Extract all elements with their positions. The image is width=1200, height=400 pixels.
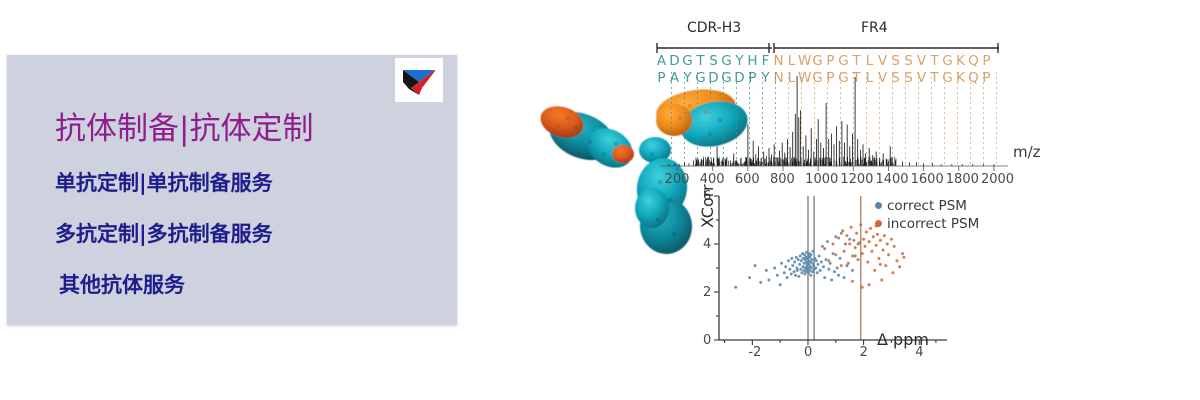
promo-link-polyclonal[interactable]: 多抗定制|多抗制备服务 (55, 218, 273, 248)
scatter-point (734, 286, 737, 289)
scatter-point (788, 268, 791, 271)
legend-swatch-correct (875, 202, 882, 209)
scatter-point (864, 245, 867, 248)
residue: H (746, 53, 759, 69)
scatter-point (814, 267, 817, 270)
legend-swatch-incorrect (875, 220, 882, 227)
scatter-point (832, 252, 835, 255)
scatter-point (839, 257, 842, 260)
legend-item-incorrect-psm: incorrect PSM (875, 216, 979, 232)
company-logo (395, 58, 443, 102)
residue: Y (733, 53, 746, 69)
residue: P (980, 53, 993, 69)
scatter-point (880, 279, 883, 282)
scatter-point (847, 262, 850, 265)
spectrum-xaxis-label: m/z (1013, 143, 1041, 161)
research-figure: CDR-H3 FR4 ADGTSGYHFNLWGPGTLVSSVTGKQP PA… (500, 0, 1200, 400)
scatter-point (791, 264, 794, 267)
scatter-point (759, 281, 762, 284)
scatter-point (776, 274, 779, 277)
scatter-point (810, 267, 813, 270)
scatter-point (786, 276, 789, 279)
scatter-point (823, 247, 826, 250)
spectrum-axis-ticks (678, 166, 994, 171)
company-arrow-logo-icon (395, 58, 443, 102)
scatter-point (854, 255, 857, 258)
scatter-point (840, 264, 843, 267)
scatter-point (795, 256, 798, 259)
scatter-point (875, 244, 878, 247)
scatter-point (902, 256, 905, 259)
spectrum-tick-label: 1200 (840, 172, 873, 187)
scatter-point (866, 261, 869, 264)
scatter-point (784, 265, 787, 268)
scatter-point (790, 273, 793, 276)
scatter-point (843, 276, 846, 279)
scatter-point (837, 274, 840, 277)
spectrum-tick-label: 800 (770, 172, 795, 187)
scatter-point (826, 240, 829, 243)
scatter-point (886, 243, 889, 246)
scatter-point (780, 262, 783, 265)
scatter-point (820, 261, 823, 264)
scatter-point (821, 245, 824, 248)
scatter-point (851, 255, 854, 258)
residue: Q (967, 53, 980, 69)
residue: S (889, 53, 902, 69)
spectrum-tick-label: 2000 (981, 172, 1014, 187)
mass-spectrum-plot (660, 72, 1008, 172)
scatter-yaxis-label: XCorr (698, 184, 717, 228)
scatter-point (797, 275, 800, 278)
scatter-point (884, 264, 887, 267)
spectrum-tick-label: 200 (665, 172, 690, 187)
spectrum-tick-label: 1000 (805, 172, 838, 187)
region-label-fr4: FR4 (861, 20, 888, 36)
scatter-point (870, 250, 873, 253)
scatter-points-incorrect-psm (823, 223, 905, 288)
scatter-point (790, 257, 793, 260)
residue: F (759, 53, 772, 69)
scatter-x-tick-label: 0 (804, 345, 812, 360)
scatter-point (798, 263, 801, 266)
scatter-point (848, 243, 851, 246)
residue: D (668, 53, 681, 69)
scatter-point (811, 270, 814, 273)
scatter-point (890, 238, 893, 241)
residue: S (707, 53, 720, 69)
scatter-point (879, 263, 882, 266)
scatter-point (793, 261, 796, 264)
scatter-point (896, 259, 899, 262)
region-label-cdr-h3: CDR-H3 (687, 20, 741, 36)
scatter-point (836, 267, 839, 270)
scatter-point (841, 229, 844, 232)
scatter-point (852, 239, 855, 242)
scatter-point (837, 237, 840, 240)
scatter-point (876, 233, 879, 236)
scatter-x-tick-label: 2 (860, 345, 868, 360)
scatter-point (805, 251, 808, 254)
scatter-point (877, 257, 880, 260)
sequence-row-query: ADGTSGYHFNLWGPGTLVSSVTGKQP (655, 53, 993, 69)
scatter-point (898, 265, 901, 268)
legend-label-incorrect: incorrect PSM (887, 216, 979, 232)
scatter-point (887, 253, 890, 256)
scatter-point (816, 271, 819, 274)
residue: W (798, 53, 811, 69)
scatter-y-tick-label: 0 (703, 333, 711, 348)
scatter-point (827, 259, 830, 262)
residue: G (941, 53, 954, 69)
scatter-point (832, 243, 835, 246)
scatter-point (768, 279, 771, 282)
residue: V (915, 53, 928, 69)
scatter-point (834, 235, 837, 238)
scatter-point (793, 270, 796, 273)
scatter-point (882, 249, 885, 252)
scatter-point (843, 250, 846, 253)
scatter-point (865, 231, 868, 234)
page-title: 抗体制备|抗体定制 (55, 103, 313, 148)
scatter-point (809, 274, 812, 277)
spectrum-tick-label: 600 (735, 172, 760, 187)
scatter-point (818, 255, 821, 258)
scatter-point (834, 253, 837, 256)
scatter-point (800, 259, 803, 262)
scatter-point (773, 267, 776, 270)
residue: S (902, 53, 915, 69)
scatter-point (754, 264, 757, 267)
scatter-point (855, 232, 858, 235)
scatter-point (868, 240, 871, 243)
scatter-y-tick-label: 4 (703, 237, 711, 252)
scatter-point (787, 259, 790, 262)
scatter-point (765, 269, 768, 272)
scatter-point (810, 253, 813, 256)
scatter-point (817, 263, 820, 266)
residue: T (850, 53, 863, 69)
scatter-point (861, 286, 864, 289)
scatter-point (859, 223, 862, 226)
scatter-point (830, 279, 833, 282)
scatter-point (794, 274, 797, 277)
scatter-point (862, 238, 865, 241)
scatter-point (812, 250, 815, 253)
spectrum-tick-label: 1400 (875, 172, 908, 187)
residue: L (785, 53, 798, 69)
scatter-point (799, 268, 802, 271)
scatter-point (833, 270, 836, 273)
scatter-point (799, 255, 802, 258)
residue: V (876, 53, 889, 69)
scatter-point (779, 283, 782, 286)
scatter-point (891, 271, 894, 274)
scatter-point (869, 227, 872, 230)
legend-item-correct-psm: correct PSM (875, 198, 967, 214)
spectrum-tick-label: 1800 (946, 172, 979, 187)
residue: K (954, 53, 967, 69)
residue: G (720, 53, 733, 69)
scatter-point (748, 276, 751, 279)
scatter-x-tick-label: -2 (748, 345, 761, 360)
scatter-point (854, 246, 857, 249)
scatter-point (872, 235, 875, 238)
scatter-point (844, 243, 847, 246)
residue: T (694, 53, 707, 69)
scatter-point (868, 283, 871, 286)
promo-link-other[interactable]: 其他抗体服务 (59, 269, 185, 299)
legend-label-correct: correct PSM (887, 198, 967, 214)
spectrum-tick-label: 1600 (911, 172, 944, 187)
scatter-point (848, 238, 851, 241)
scatter-point (858, 241, 861, 244)
residue: G (811, 53, 824, 69)
residue: A (655, 53, 668, 69)
scatter-point (857, 258, 860, 261)
promo-panel: 抗体制备|抗体定制 单抗定制|单抗制备服务 多抗定制|多抗制备服务 其他抗体服务 (7, 55, 457, 325)
scatter-point (850, 226, 853, 229)
scatter-point (797, 258, 800, 261)
scatter-point (810, 258, 813, 261)
scatter-point (873, 269, 876, 272)
scatter-point (827, 268, 830, 271)
scatter-point (823, 276, 826, 279)
residue: P (824, 53, 837, 69)
residue: T (928, 53, 941, 69)
scatter-point (825, 258, 828, 261)
scatter-point (822, 265, 825, 268)
scatter-points-correct-psm (734, 232, 859, 289)
promo-link-monoclonal[interactable]: 单抗定制|单抗制备服务 (55, 167, 273, 197)
scatter-point (800, 271, 803, 274)
scatter-point (901, 252, 904, 255)
scatter-point (861, 252, 864, 255)
scatter-y-tick-label: 2 (703, 285, 711, 300)
residue: G (681, 53, 694, 69)
residue: L (863, 53, 876, 69)
scatter-point (845, 234, 848, 237)
scatter-point (851, 280, 854, 283)
scatter-point (796, 269, 799, 272)
scatter-point (879, 239, 882, 242)
residue: G (837, 53, 850, 69)
scatter-point (783, 271, 786, 274)
scatter-xaxis-label: Δ ppm (877, 330, 929, 349)
spectrum-peaks (669, 76, 994, 166)
scatter-point (812, 264, 815, 267)
scatter-point (883, 234, 886, 237)
scatter-point (893, 245, 896, 248)
scatter-point (851, 269, 854, 272)
scatter-point (819, 269, 822, 272)
scatter-point (815, 259, 818, 262)
residue: N (772, 53, 785, 69)
